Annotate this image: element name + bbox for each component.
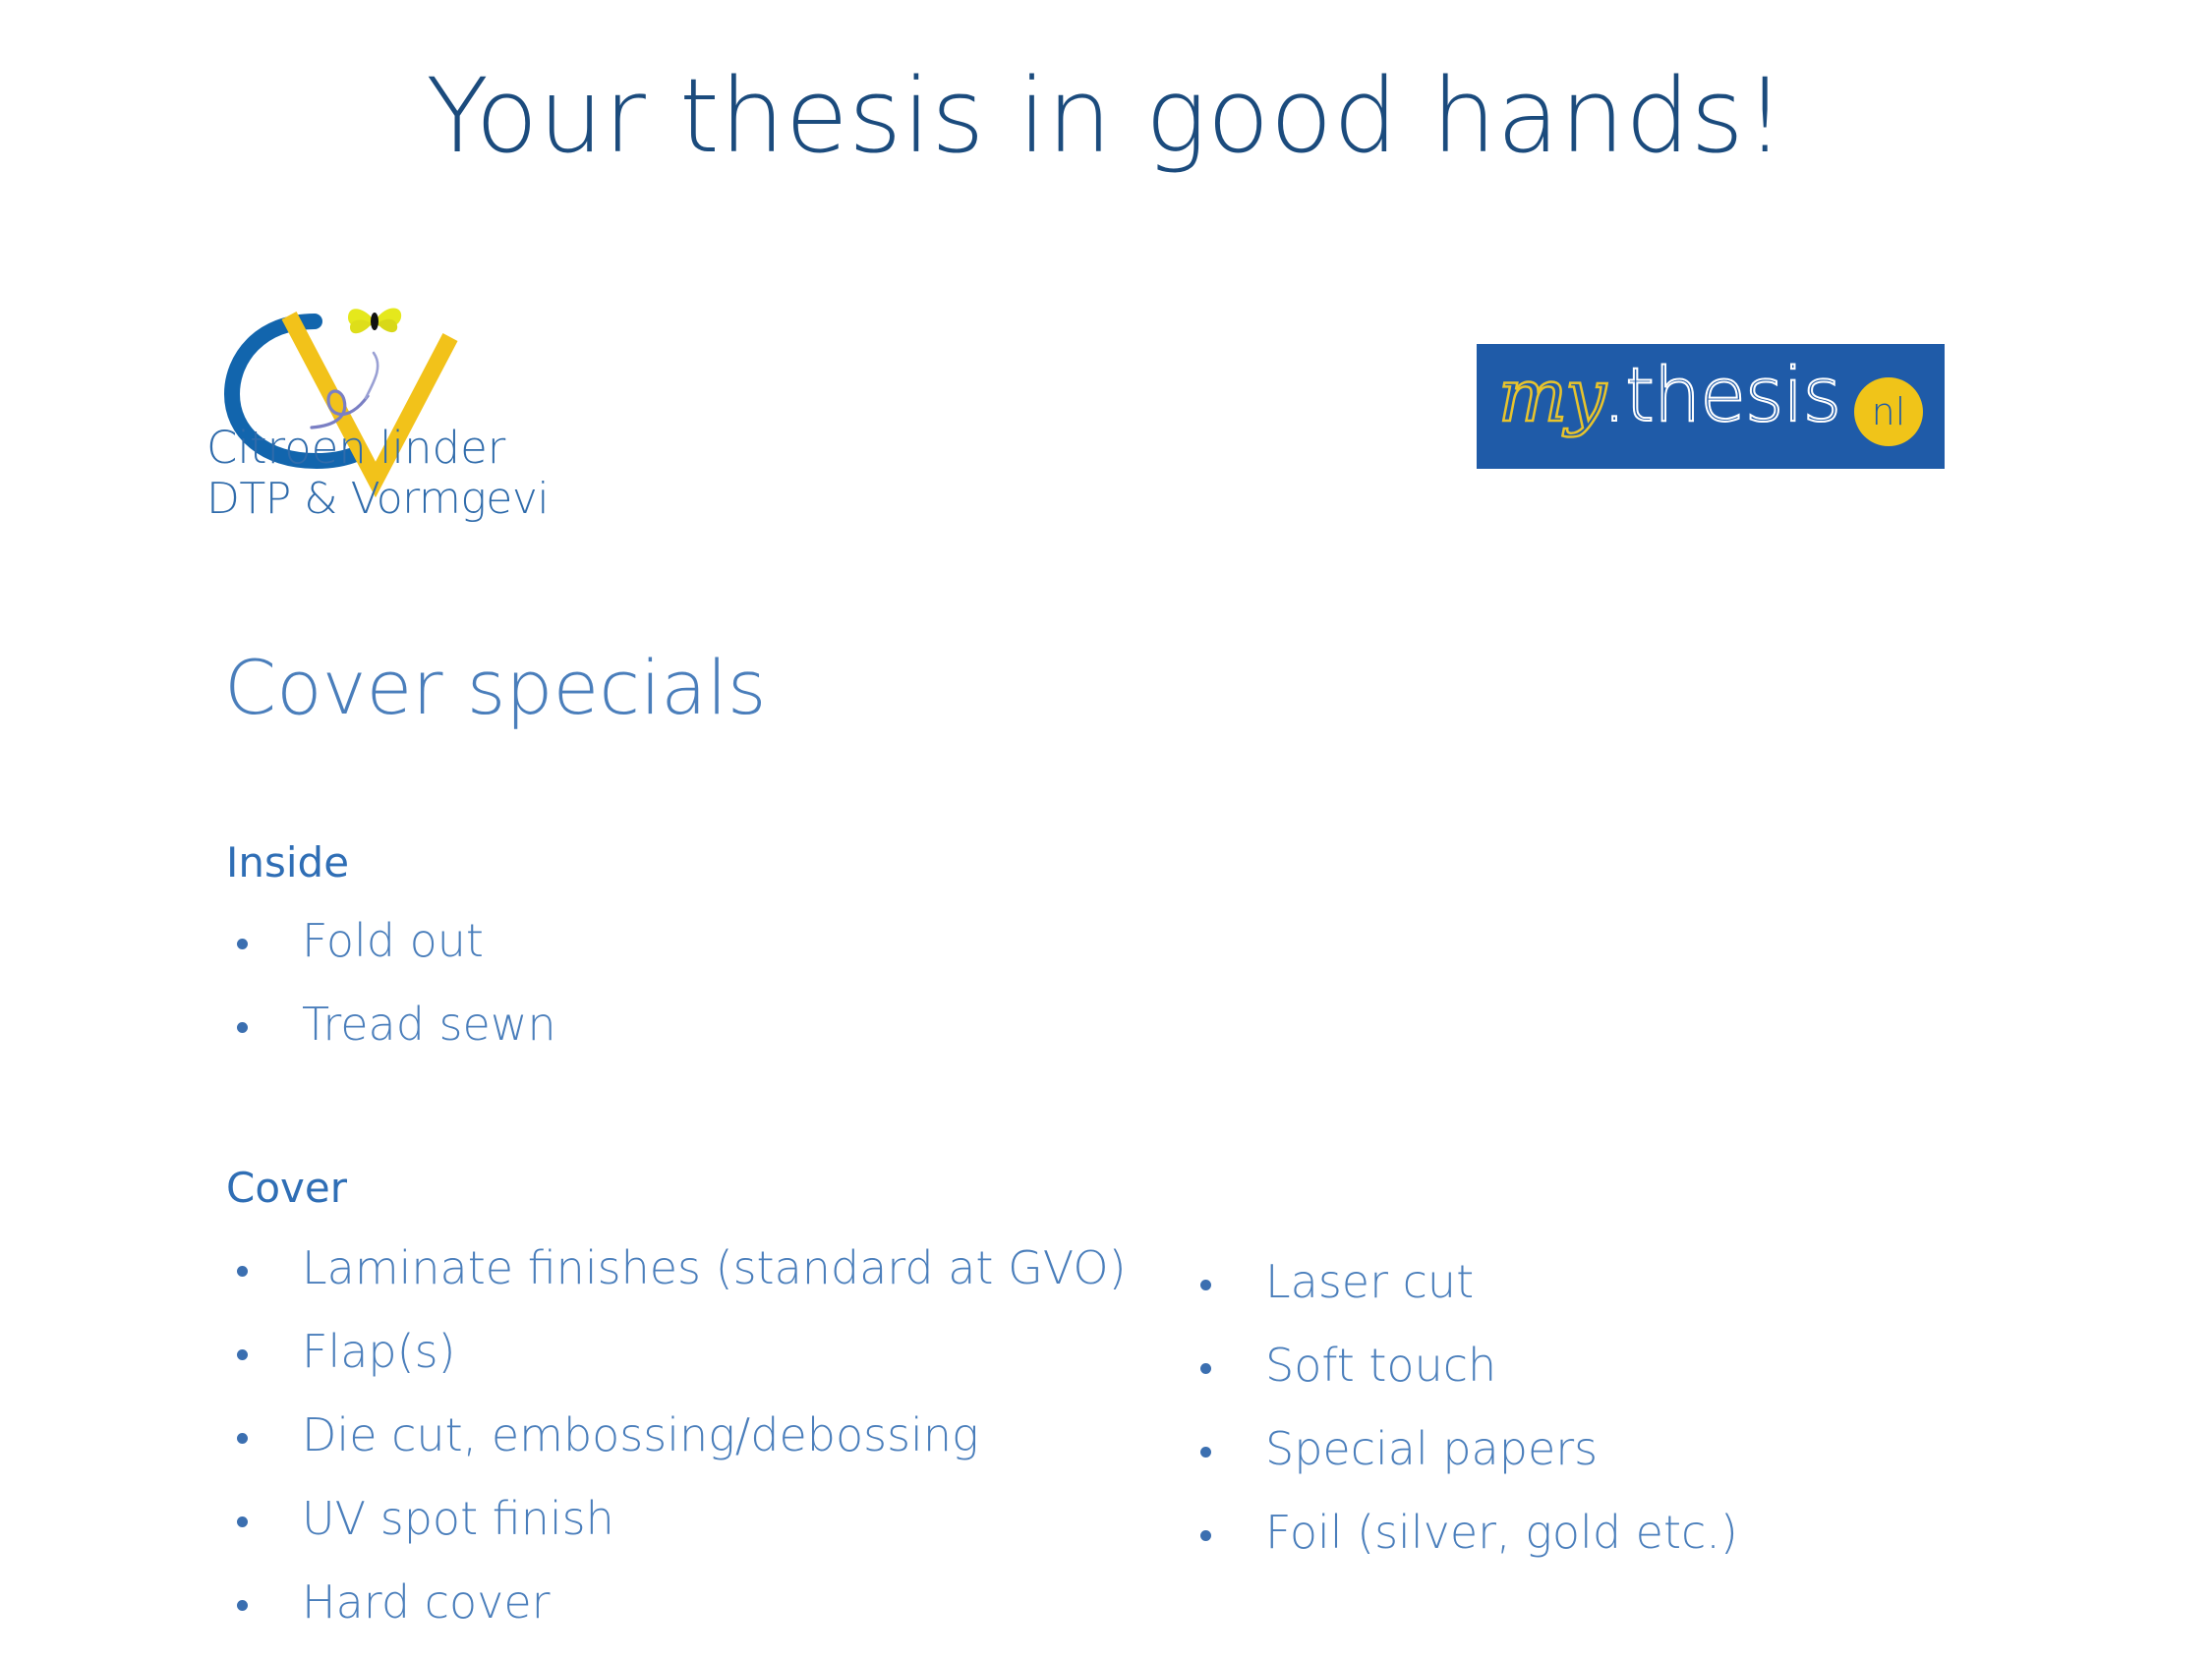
list-item-label: Flap(s) [302, 1325, 456, 1378]
cover-bullet-list-left: Laminate finishes (standard at GVO) Flap… [228, 1227, 1127, 1644]
inside-bullet-list: Fold out Tread sewn [228, 899, 556, 1066]
bullet-dot-icon [237, 1516, 248, 1527]
wordmark-linder: linder [379, 422, 506, 474]
citroenvlinder-logo: Citroen linder DTP & Vormgeving [218, 278, 533, 524]
wordmark-tagline: DTP & Vormgeving [206, 474, 545, 524]
list-item-label: Laser cut [1265, 1255, 1474, 1308]
bullet-dot-icon [237, 939, 248, 949]
list-item: Flap(s) [228, 1310, 1127, 1394]
list-item-label: Special papers [1265, 1422, 1598, 1475]
list-item: UV spot finish [228, 1477, 1127, 1561]
list-item: Tread sewn [228, 983, 556, 1066]
list-item: Fold out [228, 899, 556, 983]
bullet-dot-icon [1200, 1447, 1211, 1458]
list-item-label: Hard cover [302, 1575, 551, 1629]
bullet-dot-icon [237, 1349, 248, 1360]
citroenvlinder-wordmark: Citroen linder DTP & Vormgeving [206, 418, 545, 526]
page-title: Cover specials [224, 647, 766, 729]
list-item-label: Foil (silver, gold etc.) [1265, 1506, 1738, 1559]
list-item: Special papers [1192, 1407, 1738, 1491]
bullet-dot-icon [237, 1600, 248, 1611]
bullet-dot-icon [237, 1433, 248, 1444]
cover-bullet-list-right: Laser cut Soft touch Special papers Foil… [1192, 1240, 1738, 1574]
bullet-dot-icon [237, 1022, 248, 1033]
list-item-label: UV spot finish [302, 1492, 614, 1545]
wordmark-citroen: Citroen [206, 422, 367, 474]
list-item: Laminate finishes (standard at GVO) [228, 1227, 1127, 1310]
list-item-label: Tread sewn [302, 998, 556, 1051]
list-item: Laser cut [1192, 1240, 1738, 1324]
mythesis-nl-text: nl [1854, 377, 1923, 446]
mythesis-nl-logo: my .thesis nl [1477, 344, 1945, 469]
list-item-label: Soft touch [1265, 1339, 1496, 1392]
list-item-label: Die cut, embossing/debossing [302, 1408, 979, 1461]
bullet-dot-icon [1200, 1280, 1211, 1290]
list-item-label: Fold out [302, 914, 484, 967]
butterfly-icon [348, 309, 401, 334]
slide-title: Your thesis in good hands! [0, 61, 2212, 171]
list-item: Hard cover [228, 1561, 1127, 1644]
list-item: Die cut, embossing/debossing [228, 1394, 1127, 1477]
logo-antenna [366, 353, 378, 398]
section-heading-inside: Inside [226, 840, 349, 886]
mythesis-panel: my .thesis nl [1477, 344, 1945, 469]
bullet-dot-icon [1200, 1530, 1211, 1541]
section-heading-cover: Cover [226, 1166, 347, 1211]
mythesis-thesis-text: .thesis [1602, 358, 1840, 432]
mythesis-my-text: my [1498, 360, 1604, 432]
list-item: Foil (silver, gold etc.) [1192, 1491, 1738, 1574]
list-item-label: Laminate finishes (standard at GVO) [302, 1241, 1127, 1294]
bullet-dot-icon [237, 1266, 248, 1277]
bullet-dot-icon [1200, 1363, 1211, 1374]
list-item: Soft touch [1192, 1324, 1738, 1407]
